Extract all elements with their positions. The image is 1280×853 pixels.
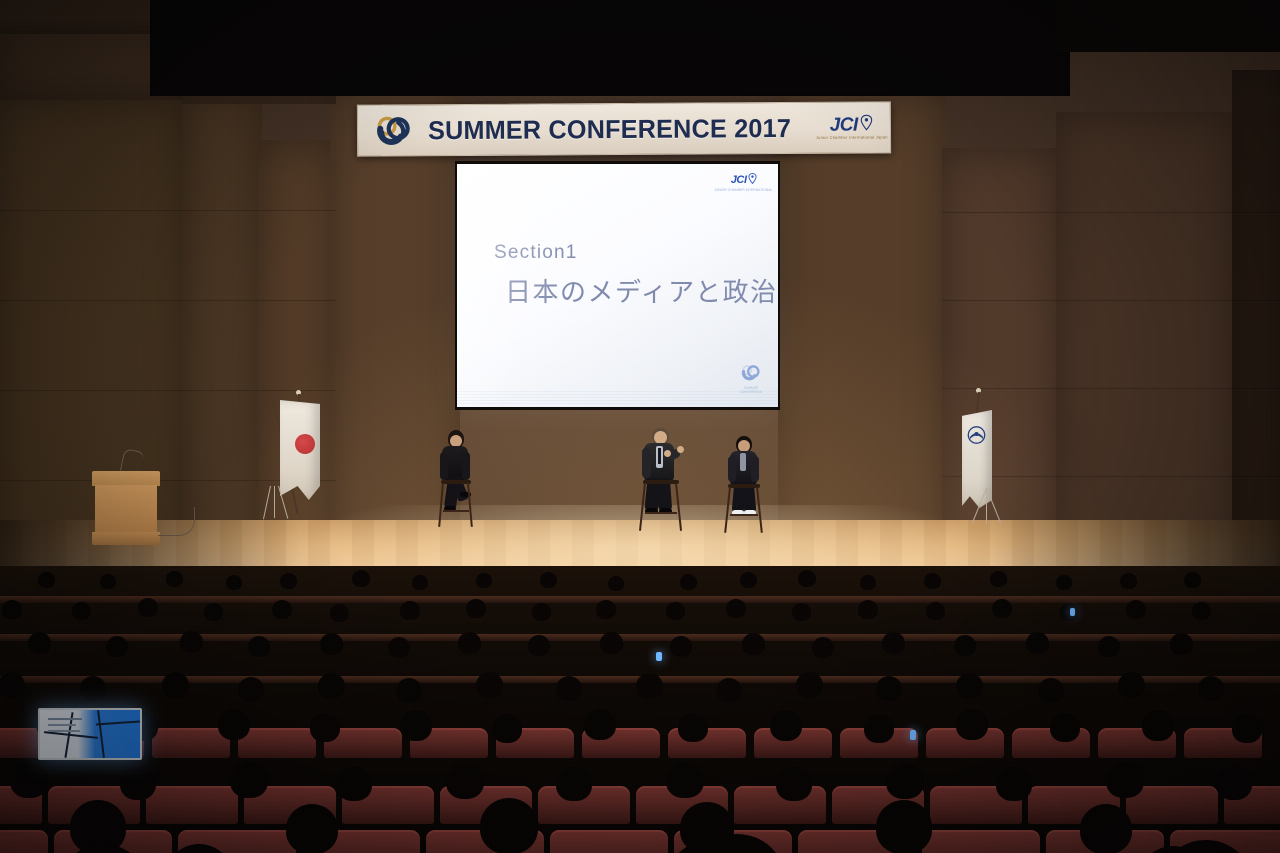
stool-right [725, 484, 763, 534]
flag-jci [958, 388, 1028, 526]
summer-conference-infinity-logo-icon [738, 369, 764, 386]
podium-cable [158, 507, 195, 536]
flag-japan-disc [295, 434, 315, 454]
projection-screen-frame: JCI JUNIOR CHAMBER INTERNATIONAL Section… [455, 161, 780, 410]
attendee-laptop [38, 708, 142, 770]
summer-conference-infinity-logo-icon [366, 110, 422, 150]
panel-seam [942, 212, 1280, 213]
event-banner: SUMMER CONFERENCE 2017 JCI Junior Chambe… [357, 101, 891, 156]
panel-seam [0, 210, 336, 211]
panelist-right [722, 436, 776, 542]
projection-screen: JCI JUNIOR CHAMBER INTERNATIONAL Section… [457, 164, 778, 407]
jci-logo: JCI Junior Chamber International Japan [822, 115, 880, 141]
panel-seam [942, 300, 1280, 301]
slide-jci-wordmark: JCI [731, 175, 747, 186]
stool-center [640, 480, 682, 532]
wall-panel-right-2 [1056, 112, 1238, 570]
wall-panel-right-3 [1232, 70, 1280, 570]
jci-wordmark: JCI [830, 115, 858, 134]
slide-section-label: Section1 [494, 242, 578, 264]
flag-jci-emblem-icon [967, 426, 986, 444]
proscenium-arch-right [1056, 0, 1280, 52]
proscenium-arch [150, 0, 1070, 96]
podium-top [92, 471, 160, 486]
panel-seam [0, 300, 336, 301]
auditorium-audience [0, 566, 1280, 853]
podium-base [92, 532, 160, 545]
banner-title: SUMMER CONFERENCE 2017 [428, 112, 817, 145]
slide-jci-logo: JCI JUNIOR CHAMBER INTERNATIONAL [721, 172, 766, 192]
stool-left [438, 480, 474, 528]
conference-hall-photo: SUMMER CONFERENCE 2017 JCI Junior Chambe… [0, 0, 1280, 853]
wall-panel-center-right [778, 92, 946, 570]
proscenium-notch-left [0, 0, 160, 20]
jci-pin-icon [748, 172, 757, 188]
slide-jci-subtitle: JUNIOR CHAMBER INTERNATIONAL [715, 189, 773, 192]
panelist-left [432, 430, 488, 540]
wall-panel-left-2 [182, 90, 262, 570]
flag-japan [258, 390, 328, 525]
slide-title: 日本のメディアと政治 [505, 272, 778, 309]
podium-body [95, 485, 157, 533]
projector-scanline-banding [457, 391, 778, 405]
panelist-center [636, 428, 696, 540]
jci-subtitle: Junior Chamber International Japan [815, 136, 887, 140]
jci-pin-icon [860, 115, 873, 135]
speaker-podium [92, 471, 160, 545]
